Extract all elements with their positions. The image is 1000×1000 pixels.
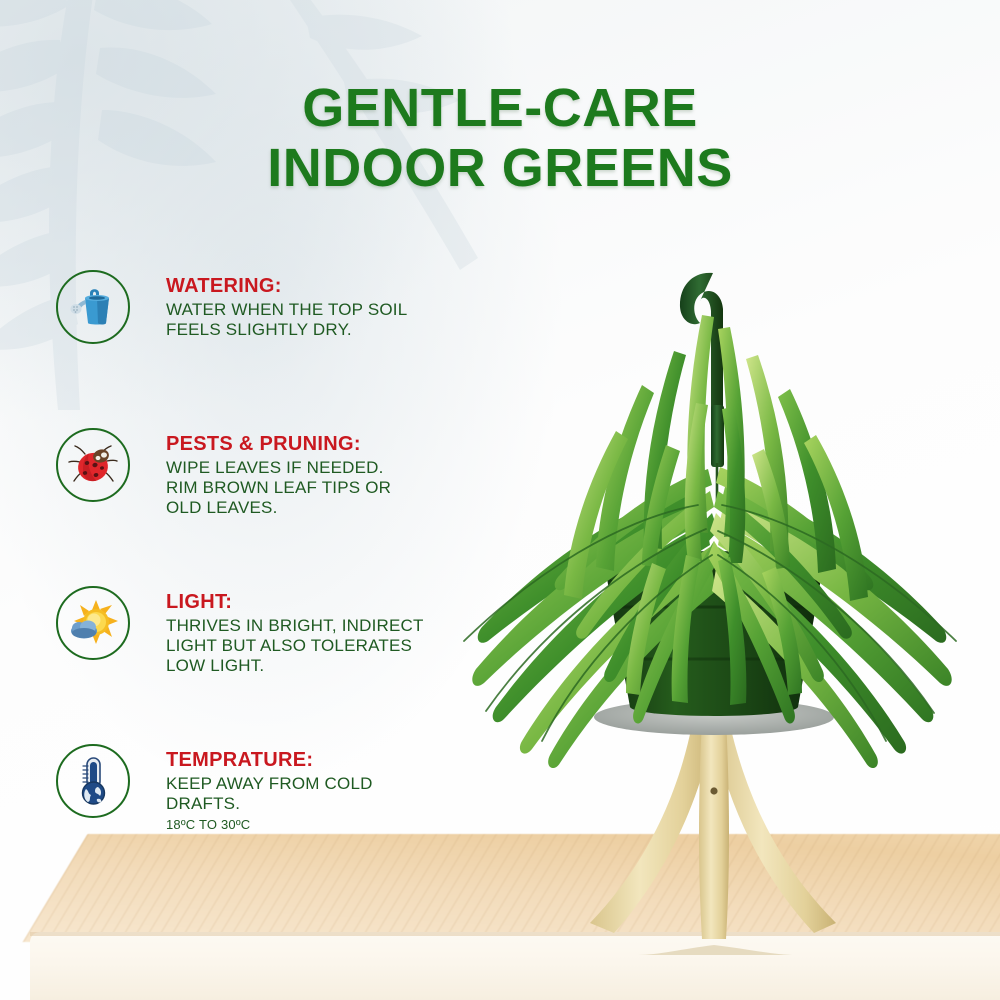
temperature-range: 18ºC TO 30ºC — [166, 816, 476, 834]
cloud-shape — [71, 621, 97, 639]
wood-tripod-stand — [590, 719, 836, 955]
care-item-text: LIGHT: THRIVES IN BRIGHT, INDIRECT LIGHT… — [166, 584, 476, 676]
thermometer-globe-icon — [71, 756, 115, 806]
care-item-light: LIGHT: THRIVES IN BRIGHT, INDIRECT LIGHT… — [56, 584, 476, 680]
care-item-text: WATERING: WATER WHEN THE TOP SOIL FEELS … — [166, 268, 476, 340]
watering-can-badge — [56, 270, 130, 344]
sun-behind-cloud-icon — [67, 599, 119, 647]
care-item-body: THRIVES IN BRIGHT, INDIRECT LIGHT BUT AL… — [166, 616, 476, 676]
watering-can-icon — [68, 285, 118, 329]
ladybug-badge — [56, 428, 130, 502]
ladybug-icon — [68, 442, 118, 488]
thermometer-badge — [56, 744, 130, 818]
care-item-watering: WATERING: WATER WHEN THE TOP SOIL FEELS … — [56, 268, 476, 364]
care-item-body: KEEP AWAY FROM COLD DRAFTS. — [166, 774, 476, 814]
poster-canvas: GENTLE-CARE INDOOR GREENS — [0, 0, 1000, 1000]
care-instruction-list: WATERING: WATER WHEN THE TOP SOIL FEELS … — [56, 268, 476, 838]
hanging-spider-plant-photo — [430, 255, 960, 955]
care-item-heading: PESTS & PRUNING: — [166, 432, 476, 456]
title-line-2: INDOOR GREENS — [0, 138, 1000, 198]
care-item-temperature: TEMPRATURE: KEEP AWAY FROM COLD DRAFTS. … — [56, 742, 476, 838]
care-item-text: TEMPRATURE: KEEP AWAY FROM COLD DRAFTS. … — [166, 742, 476, 834]
care-item-heading: WATERING: — [166, 274, 476, 298]
care-item-text: PESTS & PRUNING: WIPE LEAVES IF NEEDED. … — [166, 426, 476, 518]
title-line-1: GENTLE-CARE — [0, 78, 1000, 138]
care-item-body: WATER WHEN THE TOP SOIL FEELS SLIGHTLY D… — [166, 300, 476, 340]
care-item-body: WIPE LEAVES IF NEEDED. RIM BROWN LEAF TI… — [166, 458, 476, 518]
care-item-heading: TEMPRATURE: — [166, 748, 476, 772]
care-item-heading: LIGHT: — [166, 590, 476, 614]
sun-cloud-badge — [56, 586, 130, 660]
poster-title: GENTLE-CARE INDOOR GREENS — [0, 78, 1000, 198]
care-item-pests-pruning: PESTS & PRUNING: WIPE LEAVES IF NEEDED. … — [56, 426, 476, 522]
